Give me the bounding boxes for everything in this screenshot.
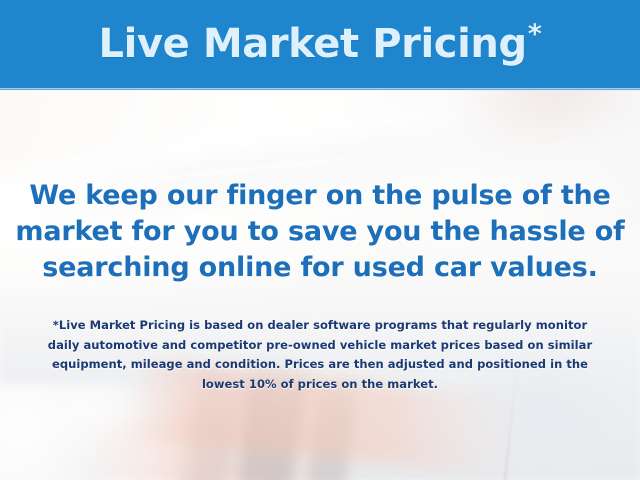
disclaimer-line-1: *Live Market Pricing is based on dealer … <box>0 316 640 336</box>
live-market-pricing-banner: Live Market Pricing* We keep our finger … <box>0 0 640 480</box>
disclaimer-line-3: equipment, mileage and condition. Prices… <box>0 355 640 375</box>
header-underline <box>0 88 640 91</box>
disclaimer-block: *Live Market Pricing is based on dealer … <box>0 316 640 394</box>
page-title: Live Market Pricing* <box>99 24 542 64</box>
header-banner: Live Market Pricing* <box>0 0 640 90</box>
disclaimer-line-4: lowest 10% of prices on the market. <box>0 375 640 395</box>
headline-line-1: We keep our finger on the pulse of the <box>0 178 640 214</box>
headline-block: We keep our finger on the pulse of the m… <box>0 178 640 286</box>
headline-line-2: market for you to save you the hassle of <box>0 214 640 250</box>
headline-line-3: searching online for used car values. <box>0 250 640 286</box>
page-title-text: Live Market Pricing <box>99 21 527 67</box>
title-asterisk: * <box>528 19 542 50</box>
disclaimer-line-2: daily automotive and competitor pre-owne… <box>0 336 640 356</box>
